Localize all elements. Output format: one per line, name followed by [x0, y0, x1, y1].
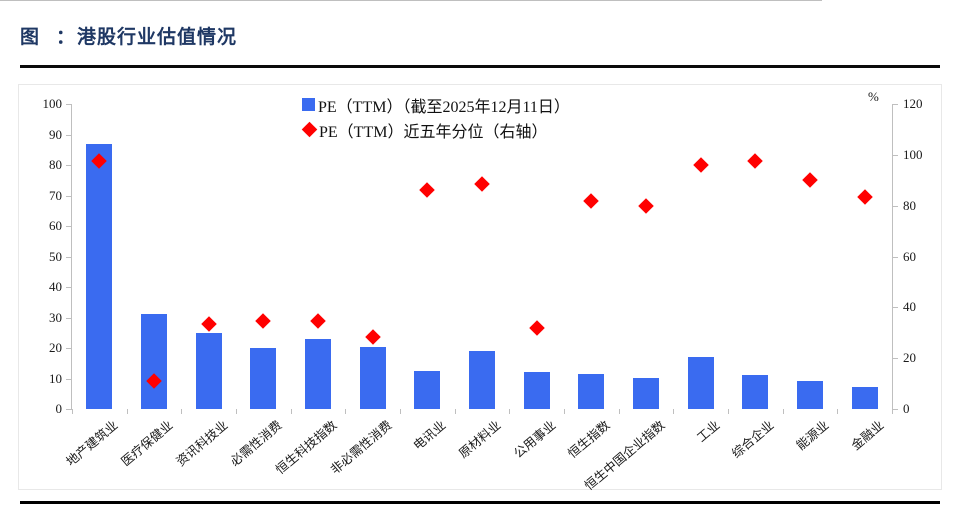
category-axis-tickmark: [400, 409, 401, 414]
left-axis-tick-20: 20: [16, 340, 62, 356]
bar-必需性消费[interactable]: [250, 348, 276, 409]
bar-资讯科技业[interactable]: [196, 333, 222, 409]
right-axis-tickmark: [893, 104, 898, 105]
figure-title-row: 图 ： 港股行业估值情况: [20, 22, 237, 49]
bar-电讯业[interactable]: [414, 371, 440, 409]
left-axis-tickmark: [66, 257, 71, 258]
left-axis-tickmark: [66, 104, 71, 105]
bar-恒生科技指数[interactable]: [305, 339, 331, 409]
chart-legend: PE（TTM）（截至2025年12月11日） PE（TTM）近五年分位（右轴）: [302, 92, 570, 142]
legend-item-percentile[interactable]: PE（TTM）近五年分位（右轴）: [302, 117, 570, 142]
category-axis-tickmark: [783, 409, 784, 414]
right-axis-tickmark: [893, 206, 898, 207]
category-axis-tickmark: [345, 409, 346, 414]
left-axis-tick-50: 50: [16, 249, 62, 265]
left-axis-tickmark: [66, 318, 71, 319]
left-axis-tickmark: [66, 348, 71, 349]
left-axis-tick-70: 70: [16, 188, 62, 204]
left-axis-line: [71, 104, 72, 410]
square-marker-icon: [302, 98, 315, 111]
category-axis-tickmark: [236, 409, 237, 414]
bar-公用事业[interactable]: [524, 372, 550, 409]
category-axis-tickmark: [509, 409, 510, 414]
page-title: 港股行业估值情况: [77, 22, 237, 49]
category-axis-tickmark: [72, 409, 73, 414]
left-axis-tickmark: [66, 226, 71, 227]
footer-divider-rule: [20, 501, 940, 504]
category-axis-tickmark: [291, 409, 292, 414]
category-axis-tickmark: [455, 409, 456, 414]
figure-root: 图 ： 港股行业估值情况 % 0102030405060708090100 02…: [0, 0, 960, 517]
bar-工业[interactable]: [688, 357, 714, 409]
legend-item-pe-ttm[interactable]: PE（TTM）（截至2025年12月11日）: [302, 92, 570, 117]
right-axis-tick-40: 40: [903, 299, 949, 315]
bar-综合企业[interactable]: [742, 375, 768, 409]
title-divider-rule: [20, 65, 940, 68]
bar-原材料业[interactable]: [469, 351, 495, 409]
right-axis-tick-0: 0: [903, 401, 949, 417]
category-axis-tickmark: [564, 409, 565, 414]
bar-恒生指数[interactable]: [578, 374, 604, 409]
right-axis-tickmark: [893, 358, 898, 359]
left-axis-tickmark: [66, 165, 71, 166]
category-axis-tickmark: [673, 409, 674, 414]
left-axis-tick-30: 30: [16, 310, 62, 326]
bar-非必需性消费[interactable]: [360, 347, 386, 409]
left-axis-tick-80: 80: [16, 157, 62, 173]
right-axis-tickmark: [893, 409, 898, 410]
bar-能源业[interactable]: [797, 381, 823, 409]
legend-label-pe-ttm: PE（TTM）（截至2025年12月11日）: [318, 93, 570, 117]
left-axis-tickmark: [66, 287, 71, 288]
left-axis-tick-10: 10: [16, 371, 62, 387]
left-axis-tickmark: [66, 409, 71, 410]
left-axis-tickmark: [66, 196, 71, 197]
left-axis-tick-90: 90: [16, 127, 62, 143]
legend-label-percentile: PE（TTM）近五年分位（右轴）: [319, 118, 547, 142]
right-axis-tick-120: 120: [903, 96, 949, 112]
category-axis-line: [0, 0, 822, 1]
bar-地产建筑业[interactable]: [86, 144, 112, 409]
right-axis-tick-60: 60: [903, 249, 949, 265]
left-axis-tick-100: 100: [16, 96, 62, 112]
right-axis-tick-100: 100: [903, 147, 949, 163]
category-axis-tickmark: [892, 409, 893, 414]
right-axis-tickmark: [893, 257, 898, 258]
category-axis-tickmark: [837, 409, 838, 414]
right-axis-unit-label: %: [868, 89, 879, 105]
right-axis-tick-20: 20: [903, 350, 949, 366]
left-axis-tick-0: 0: [16, 401, 62, 417]
right-axis-tick-80: 80: [903, 198, 949, 214]
category-axis-tickmark: [181, 409, 182, 414]
category-axis-tickmark: [619, 409, 620, 414]
diamond-marker-icon: [302, 122, 318, 138]
right-axis-tickmark: [893, 155, 898, 156]
title-colon: ：: [40, 22, 77, 49]
left-axis-tickmark: [66, 379, 71, 380]
category-axis-tickmark: [127, 409, 128, 414]
right-axis-tickmark: [893, 307, 898, 308]
left-axis-tick-60: 60: [16, 218, 62, 234]
left-axis-tickmark: [66, 135, 71, 136]
bar-恒生中国企业指数[interactable]: [633, 378, 659, 409]
bar-医疗保健业[interactable]: [141, 314, 167, 409]
category-axis-tickmark: [728, 409, 729, 414]
figure-number-label: 图: [20, 22, 40, 49]
left-axis-tick-40: 40: [16, 279, 62, 295]
bar-金融业[interactable]: [852, 387, 878, 409]
